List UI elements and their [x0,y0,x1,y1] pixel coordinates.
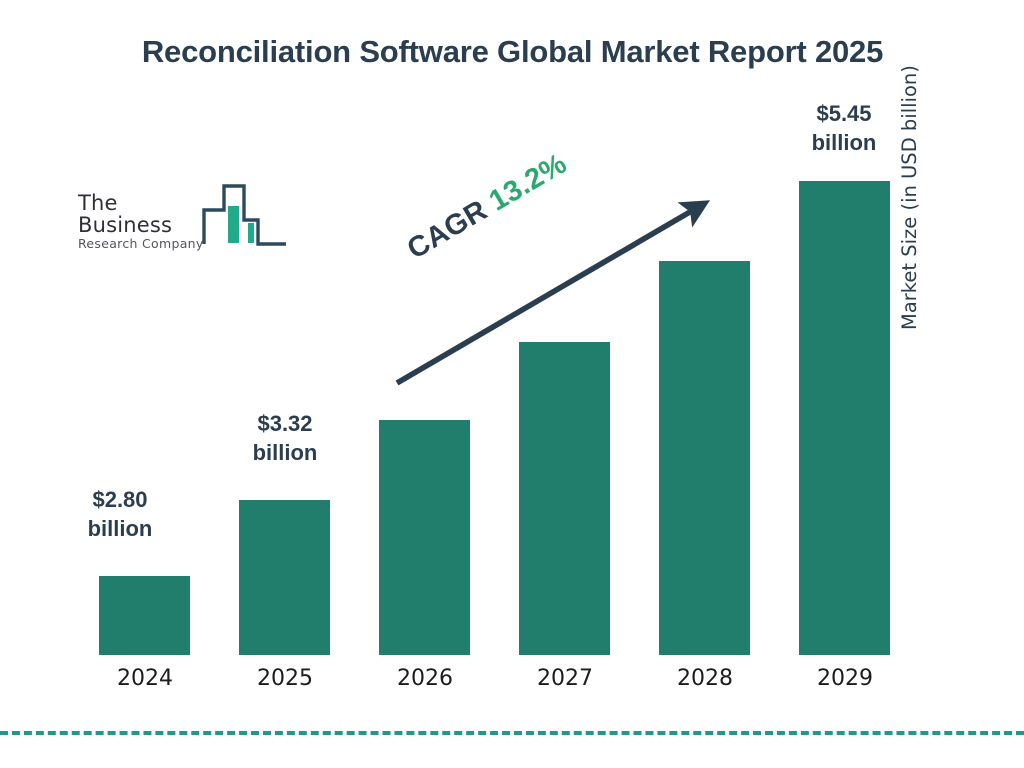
chart-plot-area: $2.80 billion $3.32 billion $5.45 billio… [0,0,1024,768]
logo-line-1: The Business [78,192,218,236]
bar-2025 [239,500,330,655]
x-tick-2027: 2027 [505,666,625,691]
cagr-annotation: CAGR 13.2% [402,148,573,267]
logo-line-2: Research Company [78,237,218,251]
x-tick-2029: 2029 [785,666,905,691]
cagr-value: 13.2% [484,148,572,218]
bar-2024 [99,576,190,655]
bar-2029 [799,181,890,655]
bar-2028 [659,261,750,655]
cagr-label: CAGR [402,194,493,265]
footer-divider [0,731,1024,735]
bar-2027 [519,342,610,655]
bar-label-2029: $5.45 billion [774,100,914,157]
y-axis-title: Market Size (in USD billion) [898,0,921,330]
x-tick-2028: 2028 [645,666,765,691]
bar-label-2024: $2.80 billion [50,486,190,543]
chart-page: Reconciliation Software Global Market Re… [0,0,1024,768]
x-tick-2025: 2025 [225,666,345,691]
x-tick-2024: 2024 [85,666,205,691]
bar-label-2025: $3.32 billion [215,410,355,467]
bar-2026 [379,420,470,655]
x-tick-2026: 2026 [365,666,485,691]
logo-text: The Business Research Company [78,192,218,251]
